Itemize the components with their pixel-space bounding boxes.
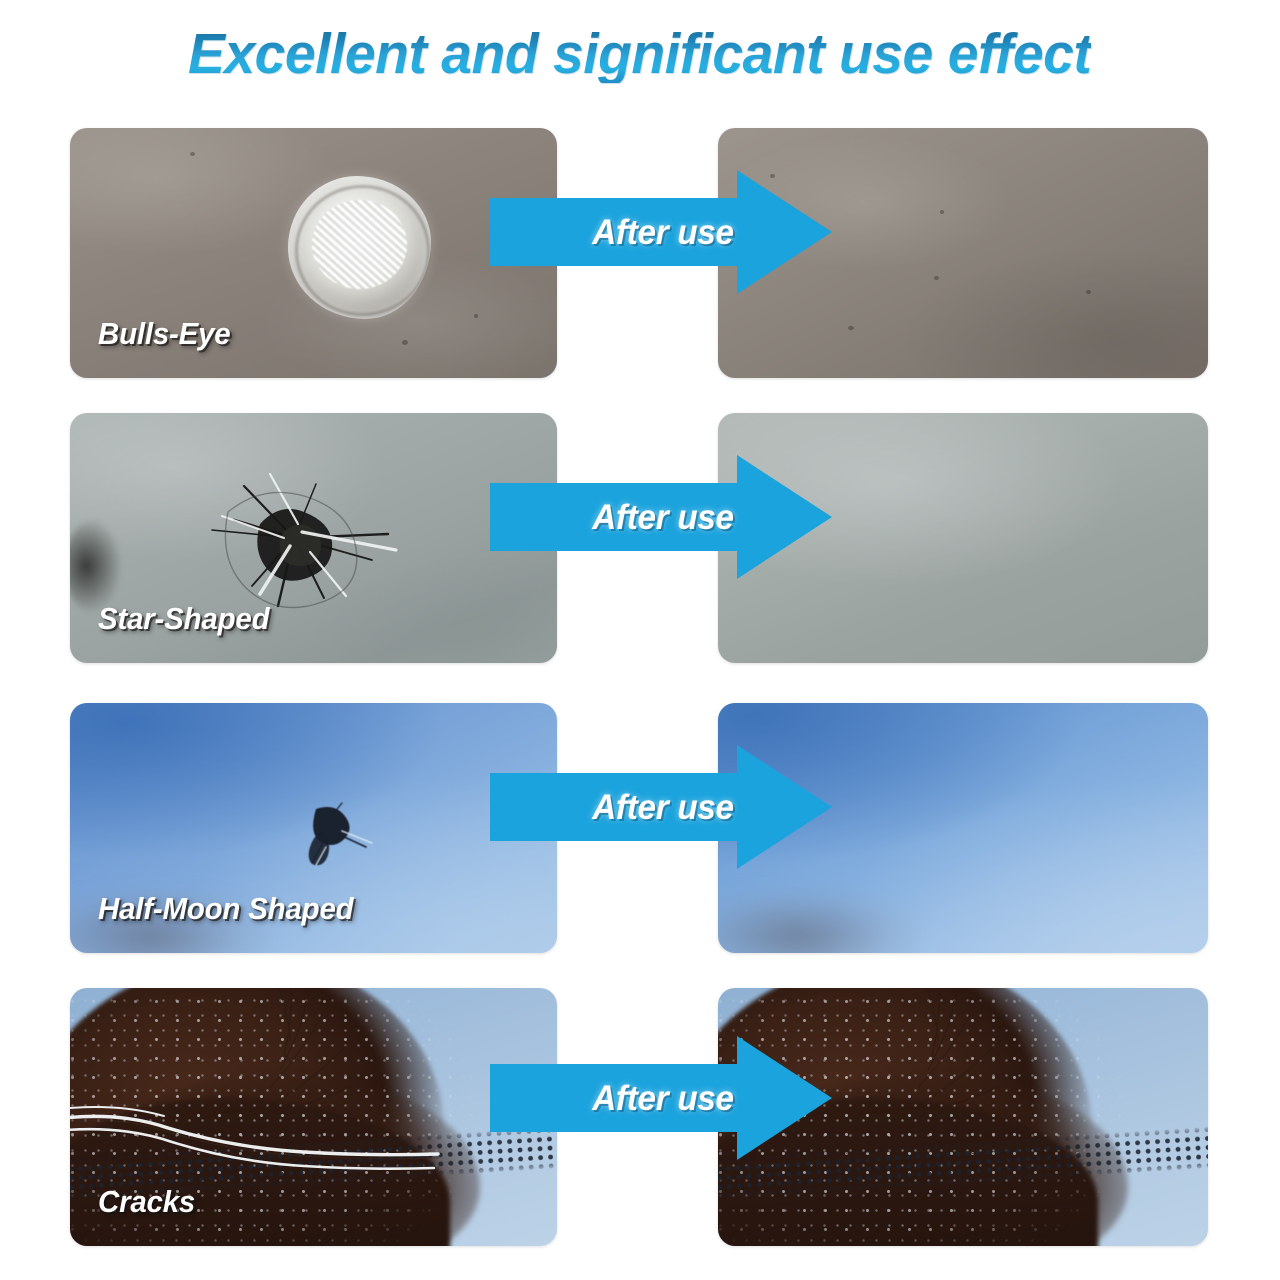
- glass-speck: [770, 174, 775, 178]
- after-image-star-shaped: [718, 413, 1208, 663]
- comparison-row-bulls-eye: Bulls-Eye After use: [0, 128, 1280, 378]
- corner-haze: [718, 887, 918, 953]
- glass-speck: [1086, 290, 1091, 294]
- glass-speck: [402, 340, 408, 345]
- glass-surface-repaired: [718, 128, 1208, 378]
- before-image-star-shaped: Star-Shaped: [70, 413, 557, 663]
- before-image-half-moon: Half-Moon Shaped: [70, 703, 557, 953]
- title-bar: Excellent and significant use effect: [0, 26, 1280, 83]
- damage-label-bulls-eye: Bulls-Eye: [98, 316, 231, 352]
- bullseye-chip-damage: [288, 176, 431, 319]
- glass-speck: [474, 314, 478, 318]
- comparison-row-star-shaped: Star-Shaped After use: [0, 413, 1280, 663]
- infographic-page: Excellent and significant use effect Bul…: [0, 0, 1280, 1280]
- comparison-row-cracks: Cracks: [0, 988, 1280, 1246]
- long-crack-damage: [70, 1084, 460, 1170]
- after-image-half-moon: [718, 703, 1208, 953]
- glass-speck: [848, 326, 854, 330]
- glass-speck: [190, 152, 195, 156]
- glass-speck: [940, 210, 944, 214]
- damage-label-half-moon: Half-Moon Shaped: [98, 891, 353, 927]
- half-moon-chip-damage: [292, 801, 378, 871]
- glass-surface-repaired: [718, 413, 1208, 663]
- after-image-cracks: [718, 988, 1208, 1246]
- star-crack-damage: [182, 468, 412, 618]
- before-image-bulls-eye: Bulls-Eye: [70, 128, 557, 378]
- comparison-row-half-moon: Half-Moon Shaped After use: [0, 703, 1280, 953]
- page-title: Excellent and significant use effect: [188, 26, 1091, 83]
- damage-label-star-shaped: Star-Shaped: [98, 601, 269, 637]
- glass-speck: [934, 276, 939, 280]
- before-image-cracks: Cracks: [70, 988, 557, 1246]
- damage-label-cracks: Cracks: [98, 1184, 195, 1220]
- after-image-bulls-eye: [718, 128, 1208, 378]
